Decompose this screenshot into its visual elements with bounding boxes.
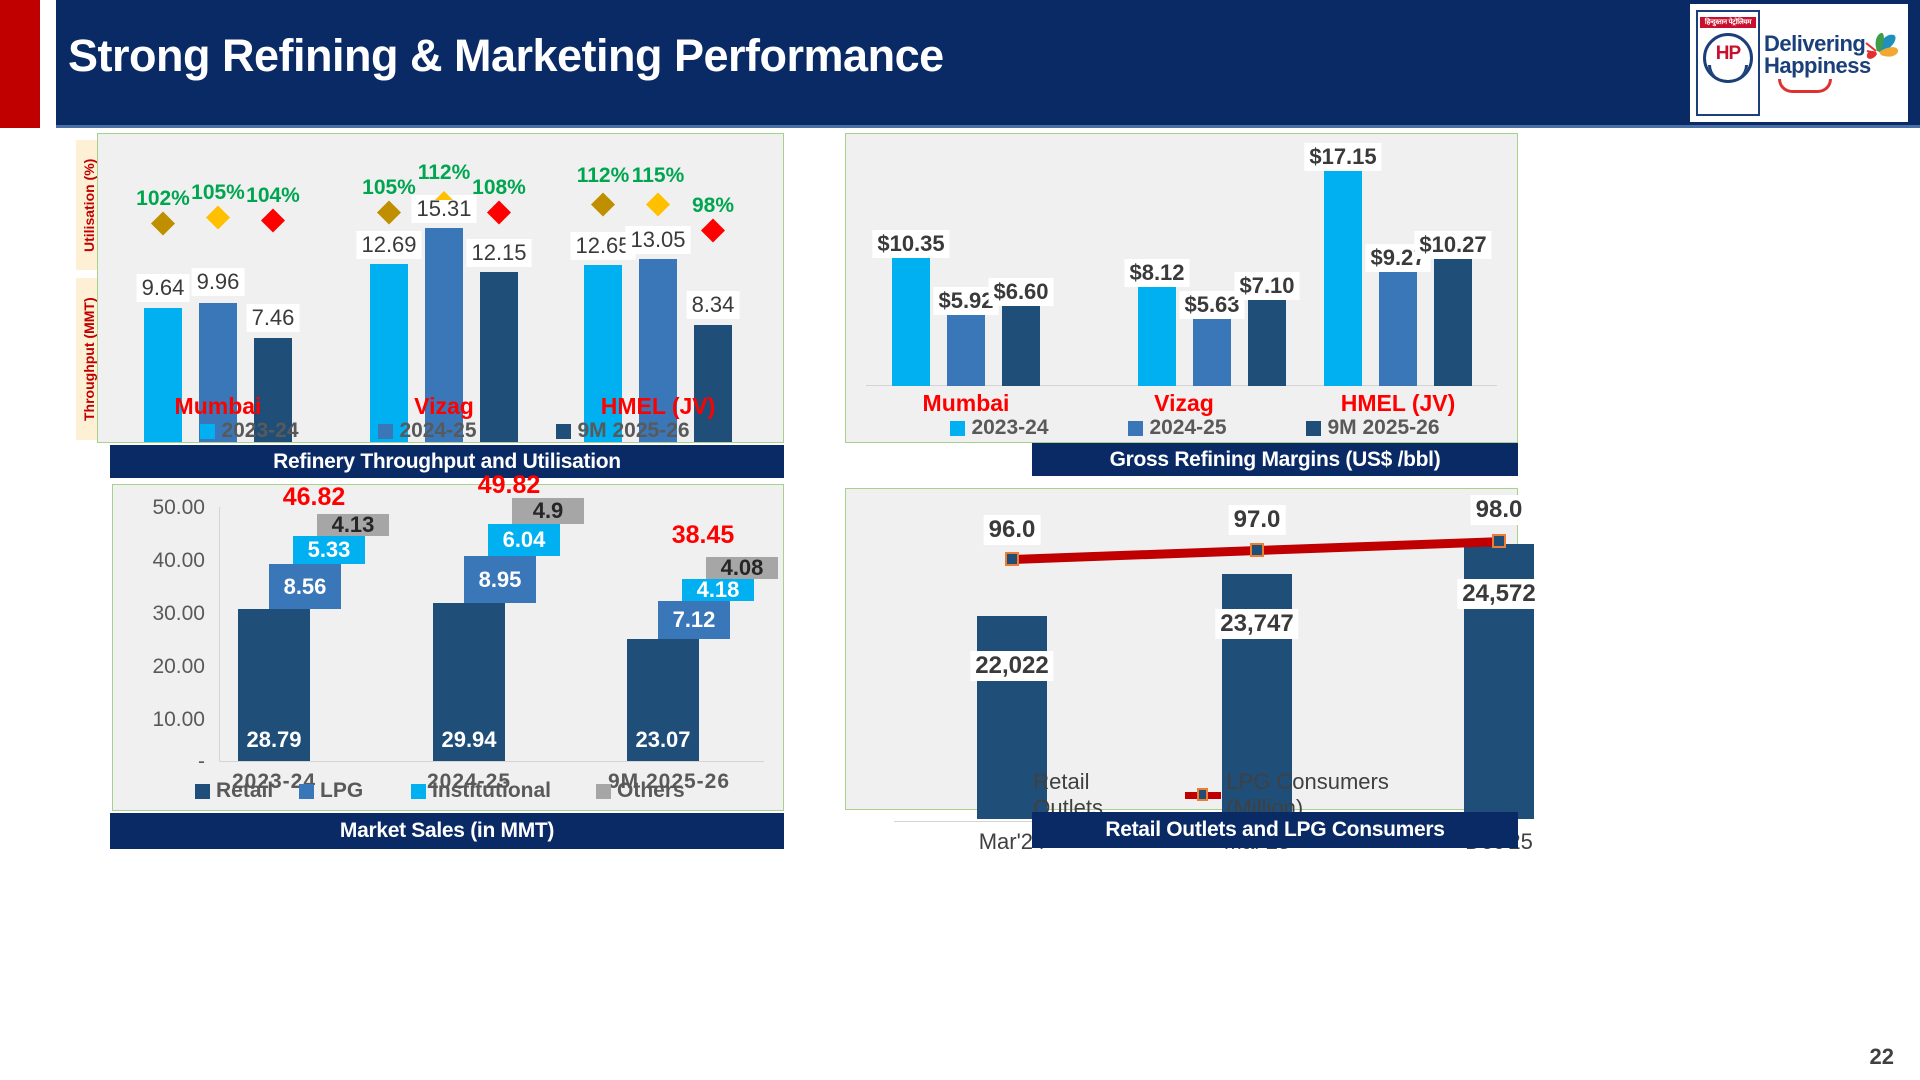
bar-grm-hmel-2024-25 xyxy=(1379,267,1417,386)
legend-label-2024-25: 2024-25 xyxy=(399,419,476,443)
segment-2024-25-retail: 29.94 xyxy=(433,603,505,761)
legend-label-lpg: LPG xyxy=(320,779,363,803)
value-label-retail-dec25: 24,572 xyxy=(1457,579,1540,609)
value-label-hmel-2024-25: 13.05 xyxy=(625,226,690,254)
legend-swatch-institutional xyxy=(411,784,426,799)
grm-plot: $10.35 $5.92 $6.60 $8.12 $5.63 $7.10 $17… xyxy=(846,134,1517,442)
legend-swatch-grm-9m-2025-26 xyxy=(1306,421,1321,436)
utilisation-hmel-2023-24: 112% xyxy=(577,164,630,188)
segment-2024-25-others: 4.9 xyxy=(512,498,584,524)
bar-mumbai-2023-24 xyxy=(144,308,182,442)
market-sales-plot: 50.00 40.00 30.00 20.00 10.00 - 28.79 8.… xyxy=(113,485,783,810)
market-sales-panel: 50.00 40.00 30.00 20.00 10.00 - 28.79 8.… xyxy=(112,484,784,811)
bar-grm-vizag-2023-24 xyxy=(1138,282,1176,386)
legend-item-2023-24[interactable]: 2023-24 xyxy=(200,419,378,443)
page-number: 22 xyxy=(1870,1044,1894,1070)
segment-2023-24-institutional: 5.33 xyxy=(293,536,365,564)
legend-swatch-grm-2024-25 xyxy=(1128,421,1143,436)
lpg-line-seg1 xyxy=(1012,546,1258,564)
value-label-grm-vizag-9m-2025-26: $7.10 xyxy=(1234,272,1299,300)
lpg-marker-mar25 xyxy=(1250,543,1264,557)
value-label-mumbai-2024-25: 9.96 xyxy=(192,268,245,296)
marker-vizag-2023-24 xyxy=(377,200,401,224)
bar-grm-hmel-2023-24 xyxy=(1324,166,1362,386)
marker-vizag-9m-2025-26 xyxy=(487,200,511,224)
value-label-vizag-2023-24: 12.69 xyxy=(356,231,421,259)
legend-swatch-9m-2025-26 xyxy=(556,424,571,439)
category-label-mumbai: Mumbai xyxy=(175,393,262,420)
category-label-grm-vizag: Vizag xyxy=(1154,390,1214,417)
legend-item-retail[interactable]: Retail xyxy=(195,779,299,803)
lpg-marker-dec25 xyxy=(1492,534,1506,548)
legend-label-others: Others xyxy=(617,779,685,803)
bar-grm-mumbai-9m-2025-26 xyxy=(1002,301,1040,386)
legend-label-grm-2023-24: 2023-24 xyxy=(971,416,1048,440)
legend-label-9m-2025-26: 9M 2025-26 xyxy=(577,419,689,443)
legend-item-9m-2025-26[interactable]: 9M 2025-26 xyxy=(556,419,689,443)
lpg-marker-mar24 xyxy=(1005,552,1019,566)
legend-swatch-2024-25 xyxy=(378,424,393,439)
legend-swatch-retail xyxy=(195,784,210,799)
ytick-20: 20.00 xyxy=(113,655,205,679)
value-label-grm-hmel-2023-24: $17.15 xyxy=(1304,143,1381,171)
retail-outlets-panel: 95.0 90.0 85.0 80.0 75.0 70.0 22,022 23,… xyxy=(845,488,1518,810)
segment-2023-24-retail: 28.79 xyxy=(238,609,310,761)
utilisation-mumbai-9m-2025-26: 104% xyxy=(246,184,300,208)
marker-mumbai-9m-2025-26 xyxy=(261,208,285,232)
value-label-retail-mar25: 23,747 xyxy=(1215,609,1298,639)
utilisation-hmel-2024-25: 115% xyxy=(632,164,685,188)
bar-grm-mumbai-2023-24 xyxy=(892,253,930,386)
value-label-grm-mumbai-9m-2025-26: $6.60 xyxy=(988,278,1053,306)
value-label-vizag-9m-2025-26: 12.15 xyxy=(466,239,531,267)
category-label-hmel: HMEL (JV) xyxy=(601,393,716,420)
bar-grm-mumbai-2024-25 xyxy=(947,310,985,386)
smile-icon xyxy=(1778,79,1832,93)
market-baseline xyxy=(219,761,764,762)
utilisation-vizag-9m-2025-26: 108% xyxy=(472,176,526,200)
grm-caption: Gross Refining Margins (US$ /bbl) xyxy=(1032,443,1518,476)
hp-hindi-text: हिन्दुस्तान पेट्रोलियम xyxy=(1700,17,1756,28)
value-label-mumbai-2023-24: 9.64 xyxy=(137,274,190,302)
marker-mumbai-2023-24 xyxy=(151,211,175,235)
slide: Strong Refining & Marketing Performance … xyxy=(0,0,1920,1080)
hp-circle-icon: HP xyxy=(1703,33,1753,83)
ytick-0: - xyxy=(113,750,205,774)
marker-vizag-2024-25 xyxy=(435,191,453,200)
legend-item-grm-2023-24[interactable]: 2023-24 xyxy=(950,416,1128,440)
segment-2024-25-institutional: 6.04 xyxy=(488,524,560,556)
value-label-lpg-dec25: 98.0 xyxy=(1471,495,1528,525)
value-label-grm-mumbai-2023-24: $10.35 xyxy=(872,230,949,258)
bar-grm-vizag-9m-2025-26 xyxy=(1248,295,1286,386)
market-sales-legend: Retail LPG Institutional Others xyxy=(195,778,775,804)
legend-swatch-2023-24 xyxy=(200,424,215,439)
utilisation-mumbai-2023-24: 102% xyxy=(136,187,190,211)
legend-label-grm-9m-2025-26: 9M 2025-26 xyxy=(1327,416,1439,440)
hp-monogram: HP xyxy=(1716,43,1740,65)
refinery-caption: Refinery Throughput and Utilisation xyxy=(110,445,784,478)
utilisation-hmel-9m-2025-26: 98% xyxy=(692,194,734,218)
bar-vizag-9m-2025-26 xyxy=(480,272,518,442)
bar-vizag-2023-24 xyxy=(370,264,408,442)
value-label-mumbai-9m-2025-26: 7.46 xyxy=(247,304,300,332)
total-2023-24: 46.82 xyxy=(283,483,346,512)
retail-caption: Retail Outlets and LPG Consumers xyxy=(1032,812,1518,848)
legend-label-grm-2024-25: 2024-25 xyxy=(1149,416,1226,440)
legend-item-grm-9m-2025-26[interactable]: 9M 2025-26 xyxy=(1306,416,1439,440)
bar-grm-hmel-9m-2025-26 xyxy=(1434,254,1472,386)
legend-swatch-grm-2023-24 xyxy=(950,421,965,436)
legend-swatch-lpg xyxy=(299,784,314,799)
market-yaxis xyxy=(219,507,220,761)
bar-grm-vizag-2024-25 xyxy=(1193,314,1231,386)
legend-label-2023-24: 2023-24 xyxy=(221,419,298,443)
ytick-10: 10.00 xyxy=(113,708,205,732)
value-label-hmel-9m-2025-26: 8.34 xyxy=(687,291,740,319)
legend-swatch-lpg-consumers xyxy=(1185,788,1218,802)
segment-9m-2025-26-lpg: 7.12 xyxy=(658,601,730,639)
tagline: Delivering Happiness xyxy=(1764,33,1902,93)
refinery-plot: 9.64 9.96 7.46 102% 105% 104% 12.69 15.3… xyxy=(98,134,783,442)
segment-2023-24-others: 4.13 xyxy=(317,514,389,536)
refinery-chart-panel: 9.64 9.96 7.46 102% 105% 104% 12.69 15.3… xyxy=(97,133,784,443)
value-label-grm-hmel-9m-2025-26: $10.27 xyxy=(1414,231,1491,259)
segment-2023-24-lpg: 8.56 xyxy=(269,564,341,609)
ytick-40: 40.00 xyxy=(113,549,205,573)
utilisation-vizag-2024-25: 112% xyxy=(418,161,471,185)
utilisation-vizag-2023-24: 105% xyxy=(362,176,416,200)
header-red-accent xyxy=(0,0,40,128)
legend-item-2024-25[interactable]: 2024-25 xyxy=(378,419,556,443)
category-label-grm-mumbai: Mumbai xyxy=(923,390,1010,417)
category-label-grm-hmel: HMEL (JV) xyxy=(1341,390,1456,417)
legend-item-lpg[interactable]: LPG xyxy=(299,779,411,803)
marker-hmel-2023-24 xyxy=(591,192,615,216)
hp-logo: हिन्दुस्तान पेट्रोलियम HP Delivering Hap… xyxy=(1690,4,1908,122)
segment-9m-2025-26-others: 4.08 xyxy=(706,557,778,579)
segment-2024-25-lpg: 8.95 xyxy=(464,556,536,603)
legend-item-others[interactable]: Others xyxy=(596,779,685,803)
retail-legend: Retail Outlets LPG Consumers (Million) xyxy=(1000,782,1450,808)
value-label-lpg-mar24: 96.0 xyxy=(984,515,1041,545)
retail-outlets-plot: 95.0 90.0 85.0 80.0 75.0 70.0 22,022 23,… xyxy=(846,489,1517,809)
hp-leaf-icon xyxy=(1708,65,1748,83)
legend-label-retail: Retail xyxy=(216,779,273,803)
legend-swatch-retail-outlets xyxy=(1000,788,1027,803)
market-sales-caption: Market Sales (in MMT) xyxy=(110,813,784,849)
butterfly-icon xyxy=(1854,29,1900,80)
grm-chart-panel: $10.35 $5.92 $6.60 $8.12 $5.63 $7.10 $17… xyxy=(845,133,1518,443)
segment-9m-2025-26-institutional: 4.18 xyxy=(682,579,754,601)
segment-9m-2025-26-retail: 23.07 xyxy=(627,639,699,761)
page-title: Strong Refining & Marketing Performance xyxy=(68,30,944,82)
legend-item-grm-2024-25[interactable]: 2024-25 xyxy=(1128,416,1306,440)
grm-legend: 2023-24 2024-25 9M 2025-26 xyxy=(930,415,1460,441)
legend-label-institutional: Institutional xyxy=(432,779,551,803)
marker-hmel-9m-2025-26 xyxy=(701,218,725,242)
value-label-lpg-mar25: 97.0 xyxy=(1229,505,1286,535)
value-label-retail-mar24: 22,022 xyxy=(970,651,1053,681)
marker-hmel-2024-25 xyxy=(646,192,670,216)
refinery-legend: 2023-24 2024-25 9M 2025-26 xyxy=(180,418,710,444)
ytick-30: 30.00 xyxy=(113,602,205,626)
total-9m-2025-26: 38.45 xyxy=(672,521,735,550)
total-2024-25: 49.82 xyxy=(478,471,541,500)
legend-swatch-others xyxy=(596,784,611,799)
category-label-vizag: Vizag xyxy=(414,393,474,420)
hp-emblem-icon: हिन्दुस्तान पेट्रोलियम HP xyxy=(1696,10,1760,116)
ytick-50: 50.00 xyxy=(113,496,205,520)
value-label-grm-vizag-2023-24: $8.12 xyxy=(1124,259,1189,287)
legend-item-institutional[interactable]: Institutional xyxy=(411,779,596,803)
marker-mumbai-2024-25 xyxy=(206,205,230,229)
utilisation-mumbai-2024-25: 105% xyxy=(191,181,245,205)
